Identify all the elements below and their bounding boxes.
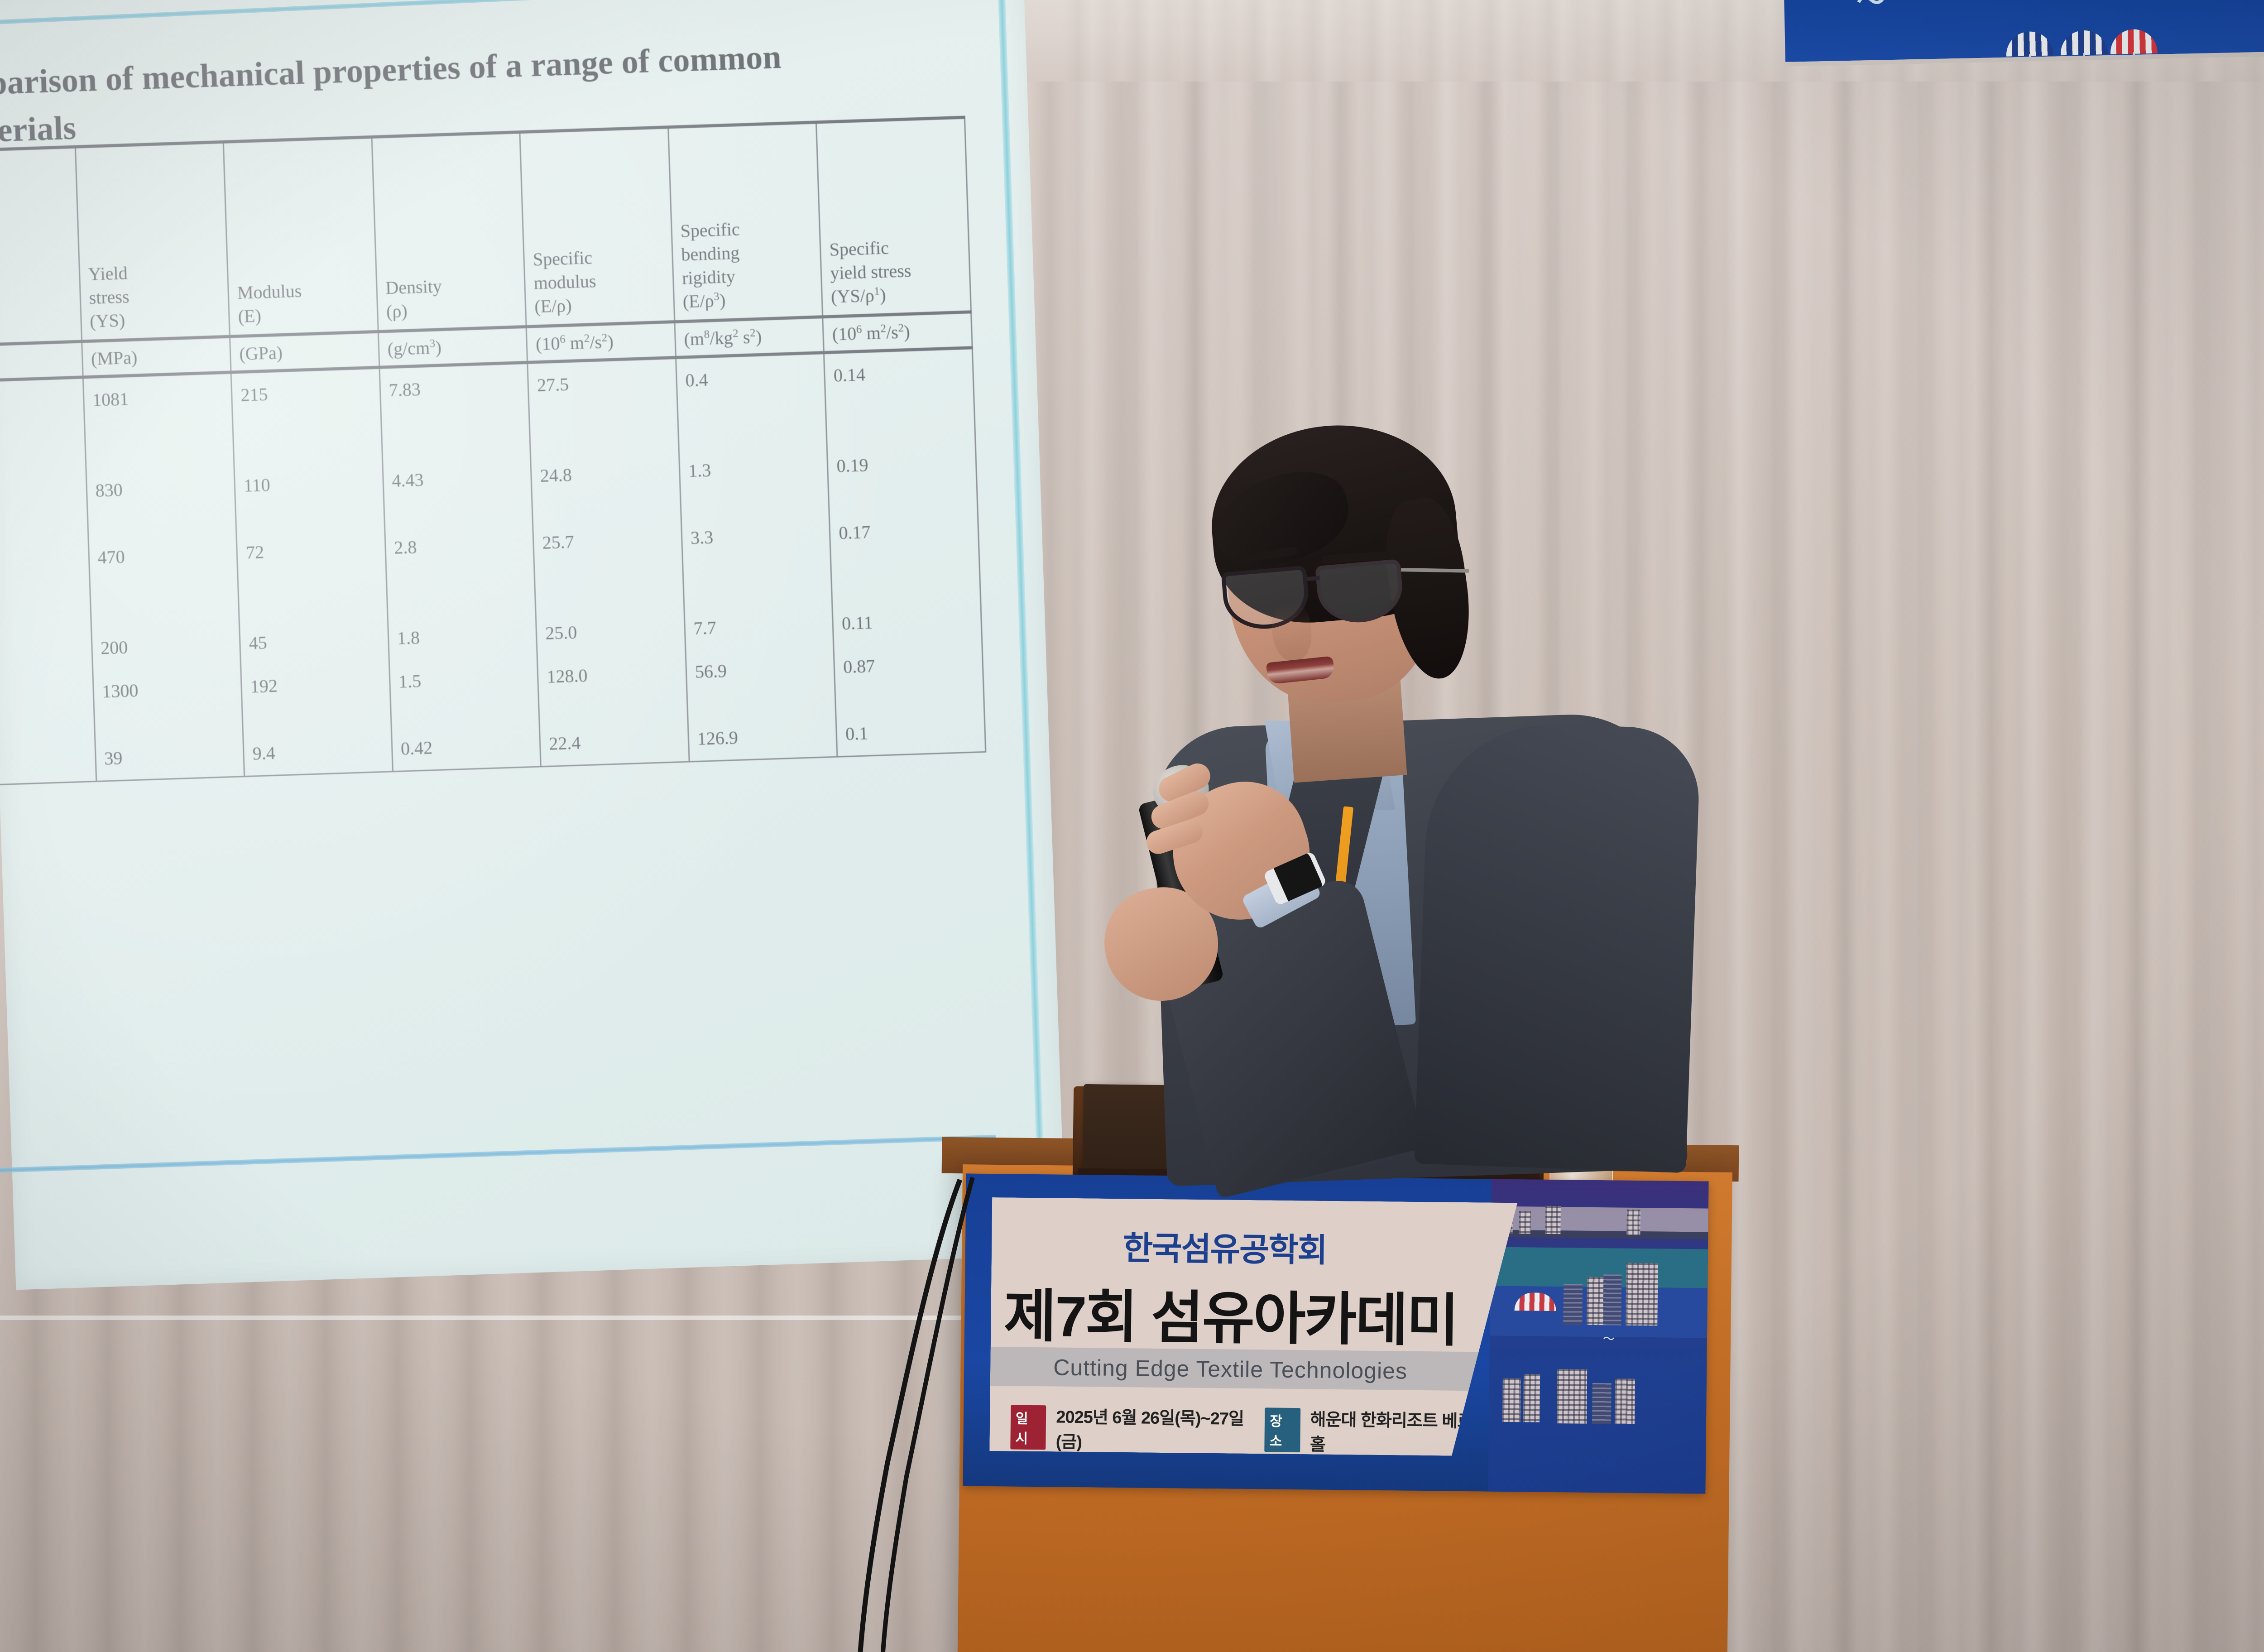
building-icon (1615, 1378, 1635, 1424)
td-ys: 470 (88, 531, 240, 627)
th-sbr-l3: rigidity (681, 262, 814, 290)
building-icon (1603, 1274, 1621, 1325)
th-yield-stress-l3: (YS) (89, 305, 221, 333)
th-density-l2: (ρ) (386, 296, 518, 324)
th-specific-bending-rigidity: Specific bending rigidity (E/ρ3) (668, 122, 823, 322)
th-specific-modulus-l1: Specific (532, 244, 665, 272)
td-material: m alloy Al-4V (0, 469, 88, 544)
material-l3: ing 707) (0, 594, 83, 624)
th-specific-modulus-l3: (E/ρ) (534, 291, 667, 319)
th-sys-l3: (YS/ρ1) (830, 281, 963, 309)
th-modulus: Modulus (E) (223, 137, 378, 337)
th-sbr-l4: (E/ρ3) (682, 286, 815, 314)
td-unit-gpa: (GPa) (230, 331, 379, 372)
wave-icon: 〜 (1856, 0, 1886, 20)
banner-card: 한국섬유공학회 제7회 섬유아카데미 Cutting Edge Textile … (989, 1197, 1517, 1456)
building-icon (1592, 1383, 1612, 1424)
date-value: 2025년 6월 26일(목)~27일(금) (1056, 1403, 1255, 1455)
building-icon (1523, 1374, 1540, 1422)
td-specmod: 27.5 (528, 358, 679, 455)
td-material: um alloy -T6 ing 707) (0, 536, 91, 634)
th-density-l1: Density (385, 272, 518, 300)
suit-jacket-right-shoulder (1414, 720, 1701, 1173)
td-rho: 2.8 (384, 522, 536, 617)
banner-society-name: 한국섬유공학회 (991, 1220, 1458, 1273)
td-rho: 7.83 (379, 362, 531, 459)
building-icon (1563, 1284, 1583, 1325)
td-specys: 0.14 (824, 348, 975, 445)
td-unit-specbend: (m8/kg2 s2) (675, 317, 824, 358)
td-specmod: 25.0 (536, 607, 686, 656)
th-density: Density (ρ) (372, 132, 527, 332)
building-icon (1557, 1369, 1587, 1424)
lens-right (1315, 559, 1405, 626)
td-specys: 0.19 (827, 440, 978, 512)
td-specmod: 25.7 (533, 517, 684, 612)
building-icon (1545, 1206, 1561, 1234)
td-ys: 200 (91, 622, 241, 670)
td-unit-specmod: (106 m2/s2) (526, 322, 676, 363)
backdrop-banner: 〜 〜 (1783, 0, 2264, 67)
banner-subtitle: Cutting Edge Textile Technologies (990, 1354, 1471, 1385)
th-yield-stress: Yield stress (YS) (75, 142, 230, 341)
material-l2: Al-4V (0, 503, 80, 534)
projected-slide: e 3.1 Comparison of mechanical propertie… (0, 0, 1039, 1276)
td-material: uce (0, 737, 96, 789)
th-modulus-l2: (E) (238, 300, 370, 328)
td-e: 192 (241, 660, 391, 732)
td-specmod: 22.4 (539, 718, 689, 767)
td-specys: 0.87 (834, 641, 984, 713)
td-rho: 0.42 (391, 722, 541, 771)
td-e: 45 (240, 617, 389, 665)
td-specbend: 56.9 (686, 646, 836, 718)
photo-scene: e 3.1 Comparison of mechanical propertie… (0, 0, 2264, 1652)
td-rho: 4.43 (382, 455, 532, 527)
building-icon (1626, 1210, 1640, 1235)
date-tag: 일 시 (1010, 1405, 1046, 1450)
table-header-row: Yield stress (YS) Modulus (E) Density (ρ… (0, 117, 971, 349)
td-specmod: 24.8 (531, 450, 681, 522)
td-specys: 0.1 (836, 708, 986, 757)
td-rho: 1.5 (389, 656, 539, 728)
td-specbend: 1.3 (679, 445, 829, 517)
td-material: fiber rced (0, 670, 95, 745)
table-body: ess steel stol ersonic) 1081 215 7.83 27… (0, 348, 986, 789)
banner-meta-row: 일 시 2025년 6월 26일(목)~27일(금) 장 소 해운대 한화리조트… (1010, 1402, 1504, 1457)
td-rho: 1.8 (388, 612, 537, 661)
material-l1: y (0, 637, 84, 668)
th-sys-l1: Specific (829, 234, 961, 262)
venue-tag: 장 소 (1264, 1407, 1300, 1452)
td-specbend: 0.4 (676, 353, 827, 450)
td-e: 9.4 (243, 727, 393, 776)
podium-banner: 〜 한국섬유공학회 제7회 섬유아카데미 Cutting Edge Textil… (963, 1173, 1708, 1494)
venue-value: 해운대 한화리조트 베르나차홀 (1310, 1405, 1505, 1457)
projection-screen: e 3.1 Comparison of mechanical propertie… (0, 0, 1023, 1291)
building-icon (1519, 1211, 1531, 1234)
td-material: ess steel stol ersonic) (0, 377, 86, 477)
td-ys: 1300 (92, 665, 243, 737)
building-icon (1626, 1263, 1658, 1326)
th-yield-stress-l2: stress (89, 282, 221, 310)
th-specific-modulus-l2: modulus (533, 267, 666, 295)
th-sbr-l1: Specific (680, 215, 812, 243)
material-l3: ersonic) (0, 436, 77, 467)
table-head: Yield stress (YS) Modulus (E) Density (ρ… (0, 117, 972, 385)
th-material (0, 147, 82, 349)
td-ys: 39 (95, 732, 245, 781)
th-sbr-l2: bending (681, 239, 813, 267)
th-specific-yield-stress: Specific yield stress (YS/ρ1) (816, 117, 971, 317)
td-e: 72 (236, 527, 388, 622)
banner-event-title: 제7회 섬유아카데미 (991, 1270, 1472, 1357)
speaker-figure (1078, 408, 1734, 1177)
th-sys-l2: yield stress (830, 257, 962, 285)
td-specys: 0.17 (829, 507, 980, 602)
td-specbend: 7.7 (684, 602, 834, 651)
material-l2: rced (0, 704, 86, 735)
haeundae-illustration: 〜 (1488, 1179, 1708, 1494)
seagull-icon: 〜 (1603, 1330, 1615, 1346)
wall-baseboard (0, 1316, 1019, 1320)
th-specific-modulus: Specific modulus (E/ρ) (520, 127, 675, 327)
td-ys: 1081 (83, 372, 234, 469)
td-unit-mpa: (MPa) (82, 336, 231, 377)
building-icon (1502, 1378, 1521, 1422)
mechanical-properties-table: Yield stress (YS) Modulus (E) Density (ρ… (0, 116, 986, 790)
td-unit-specys: (106 m2/s2) (823, 312, 972, 353)
td-unit-density: (g/cm3) (378, 327, 528, 367)
glasses-temple (1401, 568, 1469, 573)
td-ys: 830 (86, 464, 236, 536)
td-e: 110 (234, 460, 384, 532)
td-specbend: 3.3 (681, 512, 832, 607)
th-yield-stress-l1: Yield (88, 258, 220, 286)
td-specmod: 128.0 (537, 651, 687, 723)
td-specbend: 126.9 (688, 713, 838, 762)
th-modulus-l1: Modulus (237, 277, 369, 305)
material-l1: uce (0, 748, 88, 778)
td-specys: 0.11 (832, 597, 982, 646)
td-e: 215 (231, 367, 382, 464)
